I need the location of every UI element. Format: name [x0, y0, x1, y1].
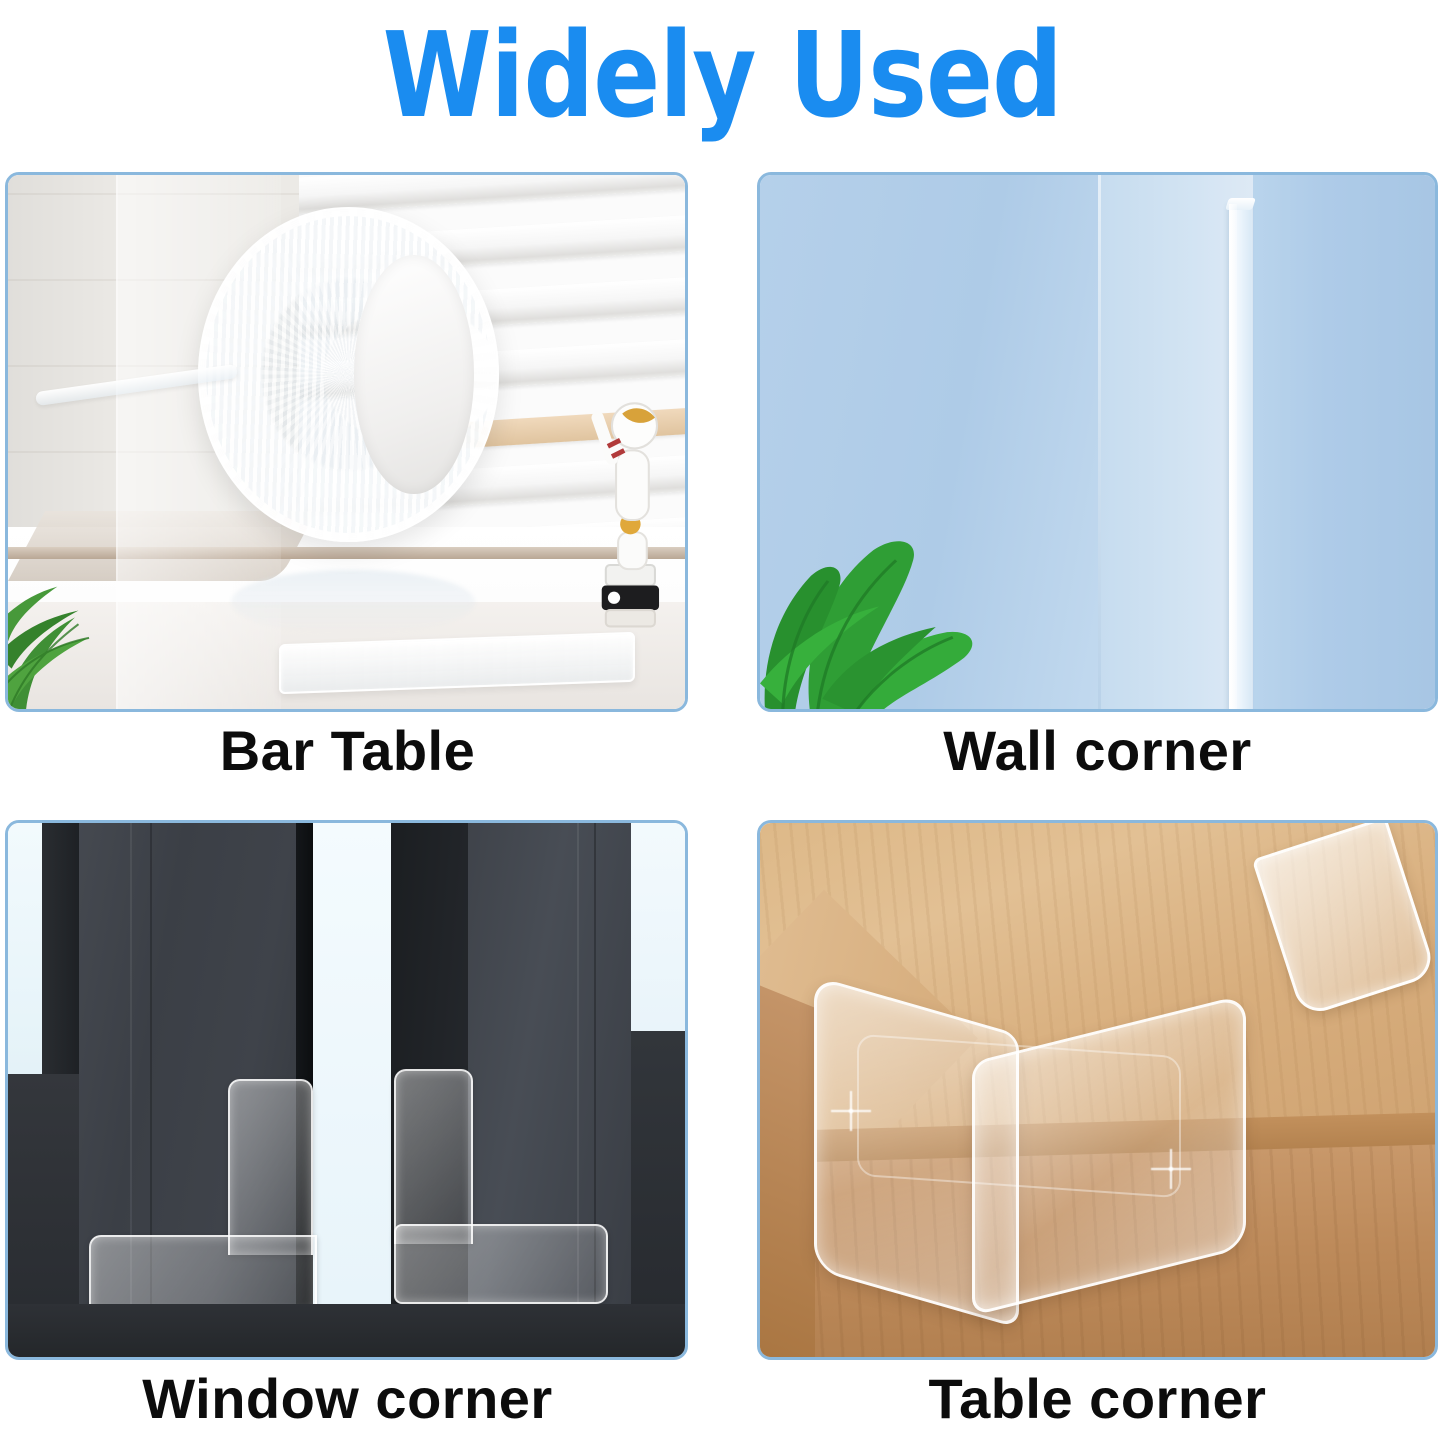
page-title: Widely Used — [383, 16, 1062, 134]
guard-vertical-arm — [228, 1079, 312, 1255]
guard-vertical-arm — [394, 1069, 474, 1245]
header: Widely Used — [0, 0, 1445, 150]
astronaut-figurine-icon — [583, 389, 678, 635]
table-side-face — [760, 959, 814, 1357]
wall-seam — [1098, 175, 1101, 709]
panel-window-corner[interactable] — [5, 820, 688, 1360]
panel-frame — [5, 820, 688, 1360]
scene-window-corner — [8, 823, 685, 1357]
caption-table-corner: Table corner — [750, 1366, 1445, 1431]
scene-table-corner — [760, 823, 1435, 1357]
guard-horizontal-arm — [89, 1235, 316, 1314]
caption-wall-corner: Wall corner — [750, 718, 1445, 783]
tape-roll-core — [354, 255, 473, 493]
corner-guard-highlight — [1229, 204, 1237, 709]
sparkle-icon — [1151, 1149, 1191, 1189]
fern-plant-icon — [8, 549, 170, 709]
panel-frame — [5, 172, 688, 712]
panel-frame — [757, 820, 1438, 1360]
guard-horizontal-arm — [394, 1224, 608, 1303]
window-sill-left — [8, 1074, 86, 1304]
corner-guard-left — [89, 1079, 312, 1314]
leafy-plant-icon — [760, 463, 1044, 709]
caption-window-corner: Window corner — [0, 1366, 695, 1431]
window-frame-left — [42, 823, 83, 1079]
floor-threshold — [8, 1304, 685, 1357]
glass-pane-right — [631, 823, 685, 1031]
scene-wall-corner — [760, 175, 1435, 709]
caption-bar-table: Bar Table — [0, 718, 695, 783]
panel-frame — [757, 172, 1438, 712]
panel-bar-table[interactable] — [5, 172, 688, 712]
roll-reflection — [231, 570, 475, 634]
corner-guard-right — [394, 1069, 604, 1304]
guard-inner-outline — [857, 1034, 1181, 1199]
corner-guard-main — [814, 1005, 1246, 1293]
panel-wall-corner[interactable] — [757, 172, 1438, 712]
corner-guard-strip — [1229, 204, 1252, 709]
wall-right — [1253, 175, 1435, 709]
tape-roll — [198, 207, 500, 542]
frame-block-right — [631, 1031, 685, 1309]
scene-bar-table — [8, 175, 685, 709]
sparkle-icon — [831, 1091, 871, 1131]
panel-table-corner[interactable] — [757, 820, 1438, 1360]
glass-gap — [313, 823, 394, 1304]
